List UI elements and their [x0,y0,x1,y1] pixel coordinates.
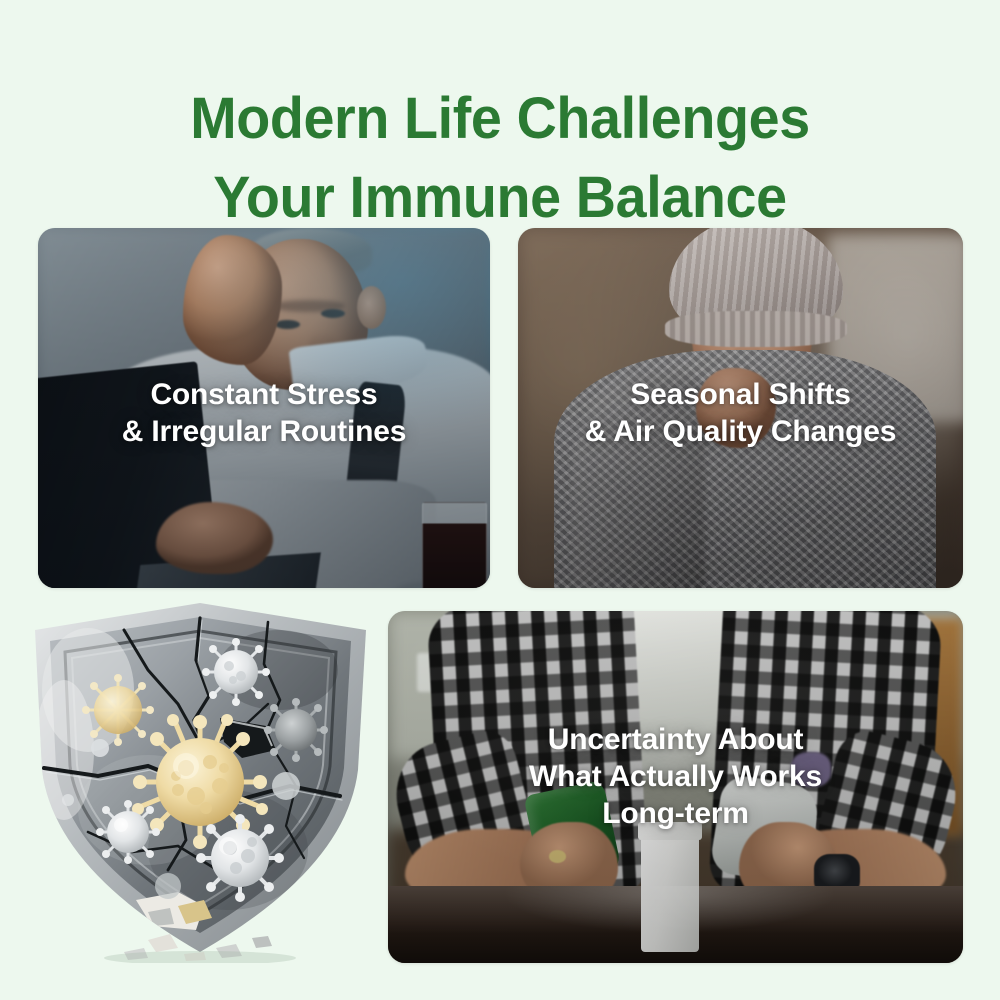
caption-line-2: & Irregular Routines [48,413,480,450]
page-title-line-1: Modern Life Challenges [20,79,980,158]
virus-particle-lower-right [196,814,284,902]
virus-particle-upper-right [202,638,270,706]
virus-particle-small-3 [155,873,181,899]
virus-particle-small-4 [62,794,74,806]
page-title: Modern Life Challenges Your Immune Balan… [20,79,980,237]
constant-stress-caption: Constant Stress & Irregular Routines [38,376,490,450]
caption-line-1: Constant Stress [48,376,480,413]
seasonal-shifts-card: Seasonal Shifts & Air Quality Changes [518,228,963,588]
virus-particle-upper-left [82,674,154,746]
cracked-shield-with-viruses-illustration [28,600,373,963]
uncertainty-caption: Uncertainty About What Actually Works Lo… [388,721,963,832]
caption-line-1: Seasonal Shifts [528,376,953,413]
promo-graphic-root: Modern Life Challenges Your Immune Balan… [0,0,1000,1000]
caption-line-2: What Actually Works [398,758,953,795]
virus-particle-small-1 [91,739,109,757]
virus-particle-small-2 [272,772,300,800]
caption-line-2: & Air Quality Changes [528,413,953,450]
virus-particle-main [132,714,268,849]
virus-particle-right [264,698,328,762]
seasonal-shifts-caption: Seasonal Shifts & Air Quality Changes [518,376,963,450]
page-title-line-2: Your Immune Balance [20,158,980,237]
cracked-shield-card [28,600,373,963]
caption-line-3: Long-term [398,795,953,832]
constant-stress-card: Constant Stress & Irregular Routines [38,228,490,588]
caption-line-1: Uncertainty About [398,721,953,758]
uncertainty-card: Uncertainty About What Actually Works Lo… [388,611,963,963]
virus-particle-lower-left [96,800,160,864]
